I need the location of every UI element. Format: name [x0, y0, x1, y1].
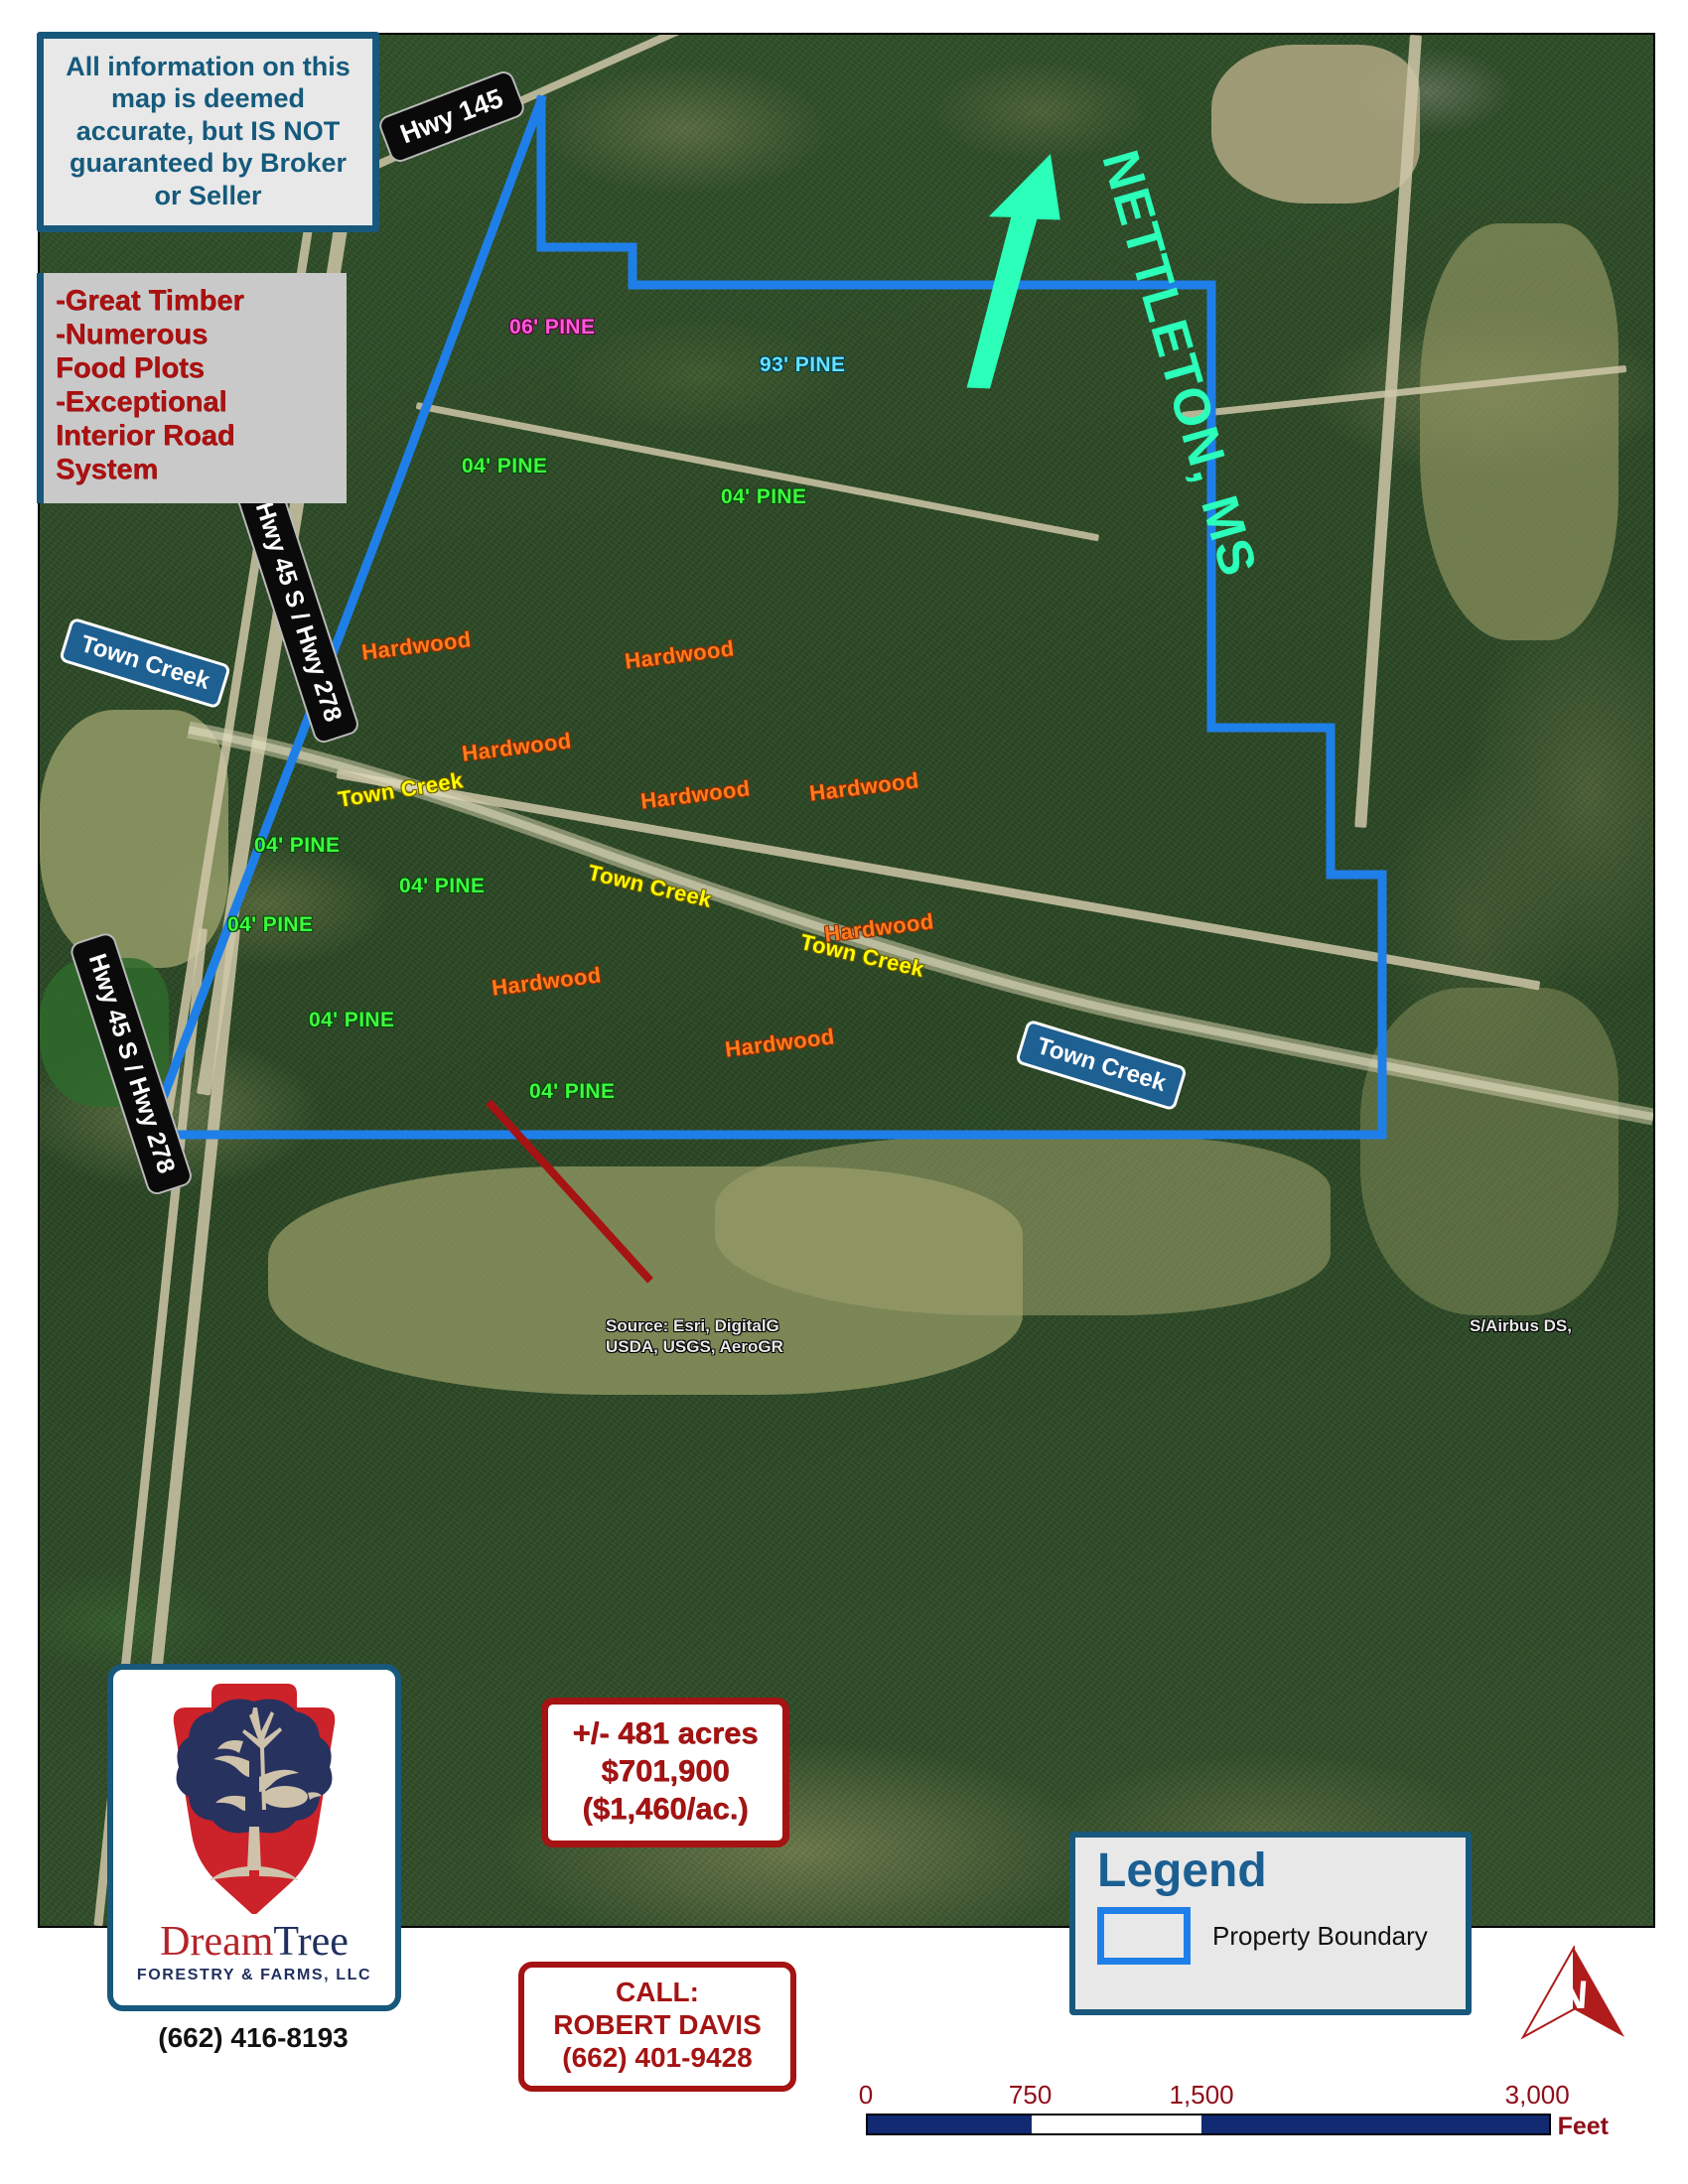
scale-bar-labels: 0 750 1,500 3,000: [866, 2080, 1551, 2114]
call-agent-box[interactable]: CALL: ROBERT DAVIS (662) 401-9428: [518, 1962, 796, 2092]
property-features-box: -Great Timber -Numerous Food Plots -Exce…: [37, 273, 347, 503]
legend-item-property-boundary: Property Boundary: [1097, 1907, 1466, 1965]
north-arrow-letter: N: [1557, 1974, 1589, 2018]
feature-item: -Numerous: [56, 319, 337, 352]
arrowhead-tree-logo-icon: [160, 1678, 349, 1914]
agent-phone[interactable]: (662) 401-9428: [528, 2041, 786, 2074]
logo-wordmark: DreamTree: [119, 1921, 389, 1963]
legend-box: Legend Property Boundary: [1069, 1832, 1472, 2015]
north-arrow-icon: N: [1519, 1946, 1628, 2045]
logo-subtitle: FORESTRY & FARMS, LLC: [119, 1967, 389, 1984]
scale-tick-3000: 3,000: [1505, 2080, 1570, 2111]
legend-title: Legend: [1097, 1847, 1466, 1895]
feature-item: Food Plots: [56, 352, 337, 386]
agent-name: ROBERT DAVIS: [528, 2008, 786, 2041]
callout-price: $701,900: [554, 1752, 776, 1790]
acreage-price-callout: +/- 481 acres $701,900 ($1,460/ac.): [541, 1698, 789, 1847]
scale-bar-track: [866, 2114, 1551, 2135]
call-label: CALL:: [528, 1976, 786, 2008]
scale-segment: [1032, 2116, 1202, 2133]
logo-word-tree: Tree: [273, 1919, 348, 1965]
disclaimer-box: All information on this map is deemed ac…: [37, 32, 379, 232]
scale-segment: [868, 2116, 1032, 2133]
feature-item: -Exceptional: [56, 386, 337, 420]
scale-tick-750: 750: [1009, 2080, 1052, 2111]
scale-bar: 0 750 1,500 3,000 Feet: [866, 2080, 1551, 2135]
scale-tick-0: 0: [859, 2080, 873, 2111]
feature-item: -Great Timber: [56, 285, 337, 319]
feature-item: Interior Road: [56, 420, 337, 454]
feature-item: System: [56, 454, 337, 487]
scale-tick-1500: 1,500: [1170, 2080, 1234, 2111]
callout-acres: +/- 481 acres: [554, 1714, 776, 1752]
legend-label-property-boundary: Property Boundary: [1212, 1921, 1428, 1952]
scale-bar-unit: Feet: [1558, 2113, 1609, 2141]
dreamtree-logo-box[interactable]: DreamTree FORESTRY & FARMS, LLC: [107, 1664, 401, 2011]
logo-word-dream: Dream: [160, 1919, 273, 1965]
broker-office-phone[interactable]: (662) 416-8193: [99, 2022, 407, 2054]
scale-segment: [1201, 2116, 1549, 2133]
callout-per-acre: ($1,460/ac.): [554, 1790, 776, 1828]
legend-swatch-property-boundary: [1097, 1907, 1191, 1965]
